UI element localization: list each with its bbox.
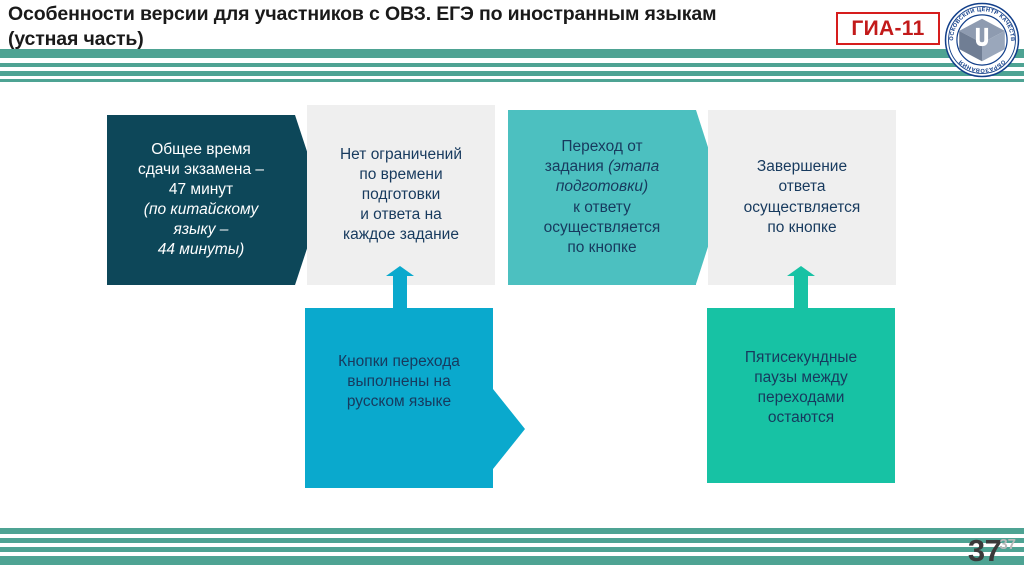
footer-stripe-3 (0, 547, 1024, 552)
header-stripe-1 (0, 49, 1024, 58)
diagram-node-transition-by-button: Переход отзадания (этапаподготовки)к отв… (508, 110, 696, 285)
process-diagram: Общее времясдачи экзамена –47 минут(по к… (0, 95, 1024, 505)
footer-stripe-4 (0, 556, 1024, 565)
status-badge: ГИА-11 (836, 12, 940, 45)
node-label-transition-by-button: Переход отзадания (этапаподготовки)к отв… (518, 137, 686, 258)
diagram-node-buttons-in-russian: Кнопки переходавыполнены нарусском языке (305, 308, 493, 488)
diagram-node-five-second-pauses: Пятисекундныепаузы междупереходамиостают… (707, 308, 895, 483)
diagram-node-answer-completion: Завершениеответаосуществляетсяпо кнопке (708, 110, 896, 285)
header-stripes (0, 49, 1024, 89)
node-label-answer-completion: Завершениеответаосуществляетсяпо кнопке (718, 157, 886, 238)
page-title: Особенности версии для участников с ОВЗ.… (8, 2, 828, 53)
page-number-value: 37 (968, 535, 1001, 566)
footer-stripes (0, 528, 1024, 574)
footer-stripe-1 (0, 528, 1024, 534)
footer-stripe-2 (0, 538, 1024, 543)
page-number: 37 37 (968, 535, 1016, 566)
diagram-node-total-exam-time: Общее времясдачи экзамена –47 минут(по к… (107, 115, 295, 285)
node-label-no-time-limits: Нет ограниченийпо времениподготовкии отв… (317, 145, 485, 246)
node-label-buttons-in-russian: Кнопки переходавыполнены нарусском языке (315, 352, 483, 412)
header-stripe-3 (0, 71, 1024, 76)
mcko-seal-logo: МОСКОВСКИЙ ЦЕНТР КАЧЕСТВА ОБРАЗОВАНИЯ (944, 2, 1020, 78)
chevron-tip-icon-node5 (493, 389, 525, 469)
node-label-total-exam-time: Общее времясдачи экзамена –47 минут(по к… (117, 140, 285, 261)
slide-canvas: Особенности версии для участников с ОВЗ.… (0, 0, 1024, 574)
diagram-node-no-time-limits: Нет ограниченийпо времениподготовкии отв… (307, 105, 495, 285)
header-stripe-4 (0, 79, 1024, 82)
page-number-ghost: 37 (999, 537, 1016, 552)
header-stripe-2 (0, 63, 1024, 67)
node-label-five-second-pauses: Пятисекундныепаузы междупереходамиостают… (717, 348, 885, 429)
